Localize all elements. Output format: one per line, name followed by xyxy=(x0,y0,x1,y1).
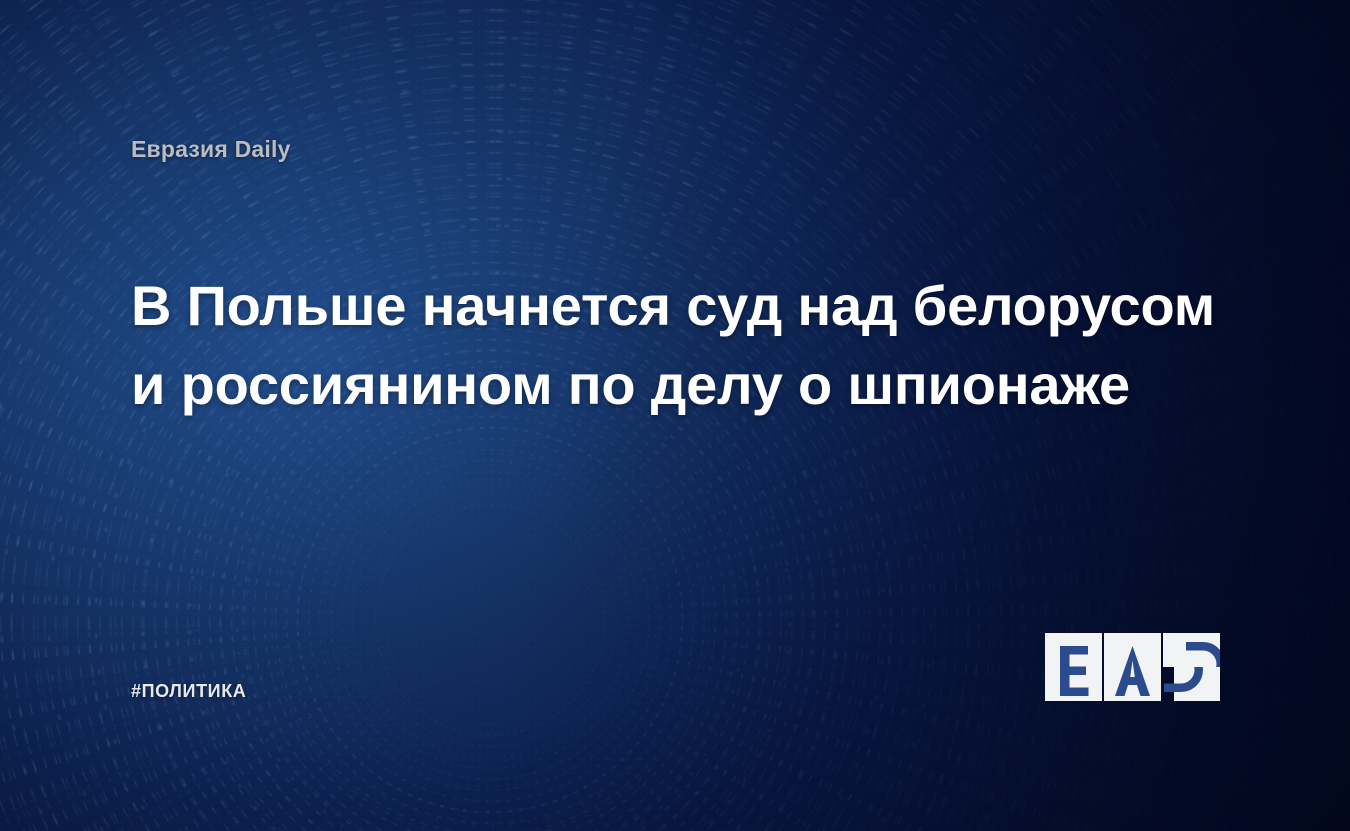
brand-name: Евразия Daily xyxy=(131,136,291,163)
page-title: В Польше начнется суд над белорусом и ро… xyxy=(131,266,1201,424)
logo-letter-d-split-icon xyxy=(1163,633,1220,701)
headline-line-1: В Польше начнется суд над белорусом xyxy=(131,266,1201,345)
headline-line-2: и россиянином по делу о шпионаже xyxy=(131,345,1201,424)
logo-d-bottom-half xyxy=(1163,667,1220,701)
logo-letter-a-icon xyxy=(1104,633,1161,701)
card-content: Евразия Daily В Польше начнется суд над … xyxy=(0,0,1350,831)
logo-letter-e-icon xyxy=(1045,633,1102,701)
eadaily-logo xyxy=(1045,633,1221,701)
news-card: Евразия Daily В Польше начнется суд над … xyxy=(0,0,1350,831)
category-tag[interactable]: #ПОЛИТИКА xyxy=(131,681,246,702)
logo-d-top-half xyxy=(1163,633,1220,667)
